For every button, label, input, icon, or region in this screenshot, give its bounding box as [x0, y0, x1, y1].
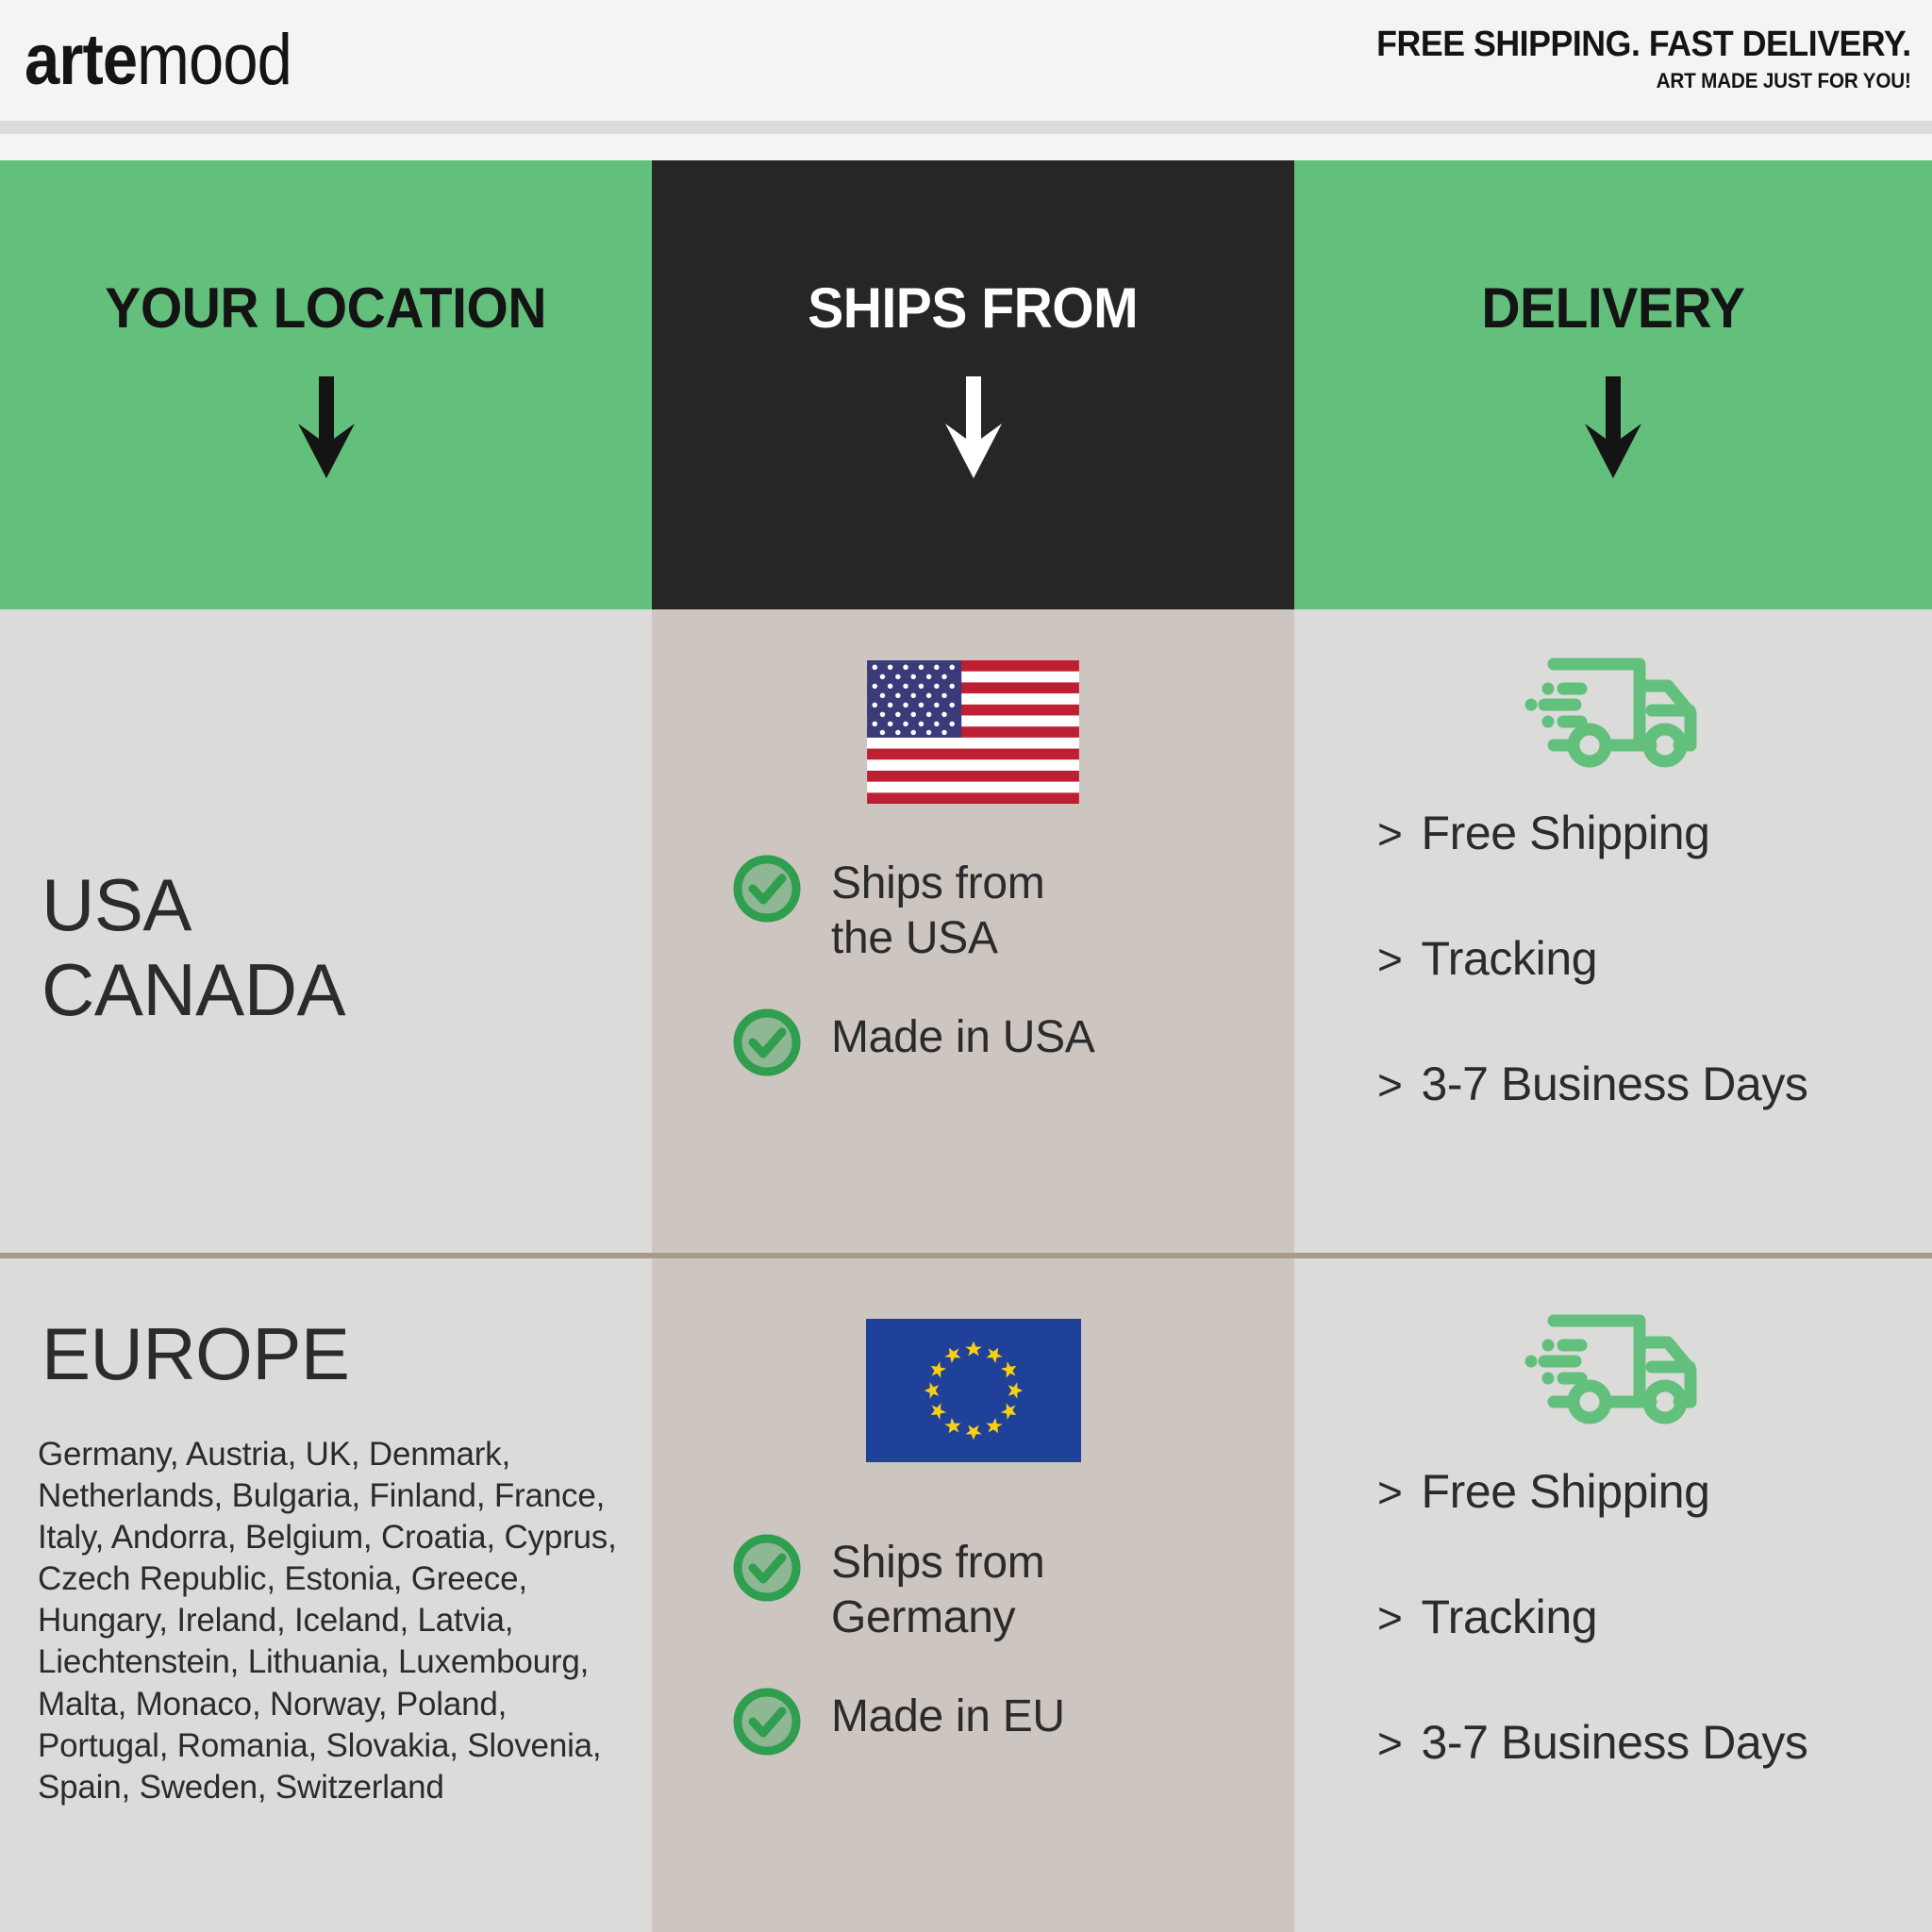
- tagline-primary: FREE SHIPPING. FAST DELIVERY.: [1376, 26, 1911, 64]
- check-circle-icon: [731, 1007, 803, 1083]
- region-name-usa-canada: USA CANADA: [42, 862, 345, 1033]
- header-ships-from-label: SHIPS FROM: [808, 275, 1139, 341]
- header-location-label: YOUR LOCATION: [106, 275, 547, 341]
- check-circle-icon: [731, 853, 803, 929]
- region-name-europe: EUROPE: [42, 1311, 349, 1396]
- ships-from-list-europe: Ships from Germany Made in EU: [731, 1532, 1259, 1804]
- chevron-right-icon: >: [1377, 1594, 1402, 1642]
- delivery-text: Free Shipping: [1421, 1466, 1709, 1518]
- row-divider: [0, 1253, 1932, 1258]
- list-item: > Free Shipping: [1377, 1466, 1924, 1518]
- header-your-location: YOUR LOCATION: [0, 160, 652, 609]
- header-delivery-label: DELIVERY: [1481, 275, 1744, 341]
- europe-country-list: Germany, Austria, UK, Denmark, Netherlan…: [38, 1434, 623, 1808]
- delivery-text: 3-7 Business Days: [1421, 1717, 1807, 1769]
- made-in-text: Made in EU: [831, 1690, 1065, 1744]
- list-item: Ships from Germany: [731, 1532, 1259, 1644]
- chevron-right-icon: >: [1377, 810, 1402, 858]
- delivery-text: 3-7 Business Days: [1421, 1058, 1807, 1110]
- chevron-right-icon: >: [1377, 936, 1402, 984]
- logo-light-part: mood: [137, 20, 291, 100]
- chevron-right-icon: >: [1377, 1720, 1402, 1768]
- column-headers: YOUR LOCATION SHIPS FROM DELIVERY: [0, 160, 1932, 609]
- delivery-text: Tracking: [1421, 933, 1597, 985]
- column-delivery: > Free Shipping > Tracking > 3-7 Busines…: [1294, 609, 1932, 1932]
- header-delivery: DELIVERY: [1294, 160, 1932, 609]
- column-ships-from: Ships from the USA Made in USA: [652, 609, 1294, 1932]
- list-item: > Tracking: [1377, 933, 1924, 985]
- list-item: Made in USA: [731, 1007, 1259, 1083]
- tagline-block: FREE SHIPPING. FAST DELIVERY. ART MADE J…: [1342, 26, 1911, 94]
- made-in-text: Made in USA: [831, 1010, 1095, 1065]
- list-item: Made in EU: [731, 1686, 1259, 1762]
- chevron-right-icon: >: [1377, 1469, 1402, 1517]
- shipping-info-infographic: artemood FREE SHIPPING. FAST DELIVERY. A…: [0, 0, 1932, 1932]
- delivery-list-usa: > Free Shipping > Tracking > 3-7 Busines…: [1377, 808, 1924, 1184]
- list-item: > Tracking: [1377, 1591, 1924, 1643]
- chevron-right-icon: >: [1377, 1061, 1402, 1109]
- check-circle-icon: [731, 1686, 803, 1762]
- delivery-truck-icon: [1294, 1304, 1932, 1431]
- down-arrow-icon: [281, 376, 372, 483]
- list-item: Ships from the USA: [731, 853, 1259, 965]
- ships-from-text: Ships from the USA: [831, 857, 1044, 965]
- list-item: > 3-7 Business Days: [1377, 1058, 1924, 1110]
- delivery-list-europe: > Free Shipping > Tracking > 3-7 Busines…: [1377, 1466, 1924, 1842]
- down-arrow-icon: [928, 376, 1019, 483]
- delivery-text: Tracking: [1421, 1591, 1597, 1643]
- delivery-text: Free Shipping: [1421, 808, 1709, 859]
- check-circle-icon: [731, 1532, 803, 1608]
- brand-divider: [0, 121, 1932, 134]
- tagline-secondary: ART MADE JUST FOR YOU!: [1376, 68, 1911, 95]
- logo-bold-part: arte: [25, 20, 137, 100]
- delivery-truck-icon: [1294, 647, 1932, 774]
- content-grid: USA CANADA EUROPE Germany, Austria, UK, …: [0, 609, 1932, 1932]
- ships-from-list-usa: Ships from the USA Made in USA: [731, 853, 1259, 1124]
- header-ships-from: SHIPS FROM: [652, 160, 1294, 609]
- ships-from-text: Ships from Germany: [831, 1536, 1044, 1644]
- column-your-location: USA CANADA EUROPE Germany, Austria, UK, …: [0, 609, 652, 1932]
- artemood-logo: artemood: [25, 25, 291, 96]
- down-arrow-icon: [1568, 376, 1658, 483]
- brand-bar: artemood FREE SHIPPING. FAST DELIVERY. A…: [0, 0, 1932, 121]
- eu-flag-icon: [652, 1319, 1294, 1462]
- list-item: > 3-7 Business Days: [1377, 1717, 1924, 1769]
- us-flag-icon: [652, 660, 1294, 804]
- list-item: > Free Shipping: [1377, 808, 1924, 859]
